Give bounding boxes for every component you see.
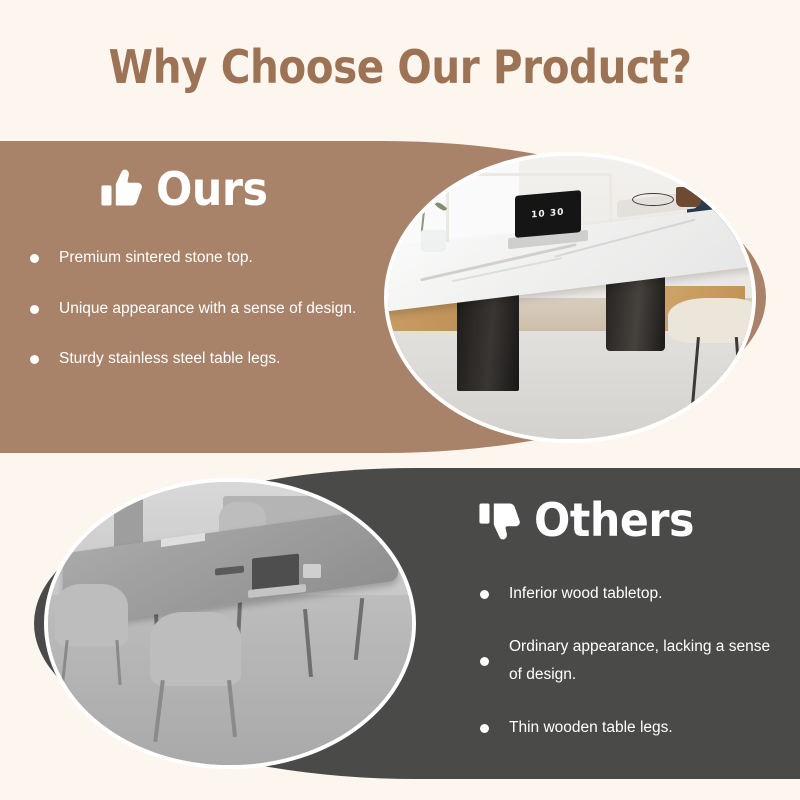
ours-bullet-list: Premium sintered stone top. Unique appea… xyxy=(30,244,375,396)
bullet-dot-icon xyxy=(30,254,39,263)
list-item: Sturdy stainless steel table legs. xyxy=(30,345,375,374)
bullet-dot-icon xyxy=(30,355,39,364)
thumbs-down-icon xyxy=(478,497,524,543)
list-item-label: Sturdy stainless steel table legs. xyxy=(59,345,280,374)
ours-product-photo: 10 30 xyxy=(384,152,756,443)
laptop-clock-text: 10 30 xyxy=(532,208,565,221)
others-product-photo xyxy=(44,478,416,769)
ours-heading-text: Ours xyxy=(156,166,268,212)
others-heading-text: Others xyxy=(534,497,694,543)
page-title: Why Choose Our Product? xyxy=(48,40,752,94)
others-bullet-list: Inferior wood tabletop. Ordinary appeara… xyxy=(480,580,780,767)
list-item-label: Premium sintered stone top. xyxy=(59,244,253,273)
conference-chair xyxy=(150,612,241,686)
others-photo-scene xyxy=(48,482,412,765)
glass-vase xyxy=(421,230,446,253)
list-item: Inferior wood tabletop. xyxy=(480,580,780,609)
bullet-dot-icon xyxy=(480,657,489,666)
bullet-dot-icon xyxy=(480,590,489,599)
conference-chair xyxy=(55,584,128,646)
ours-heading: Ours xyxy=(100,166,276,212)
infographic-page: Why Choose Our Product? xyxy=(0,0,800,800)
bullet-dot-icon xyxy=(480,724,489,733)
bullet-dot-icon xyxy=(30,305,39,314)
list-item-label: Thin wooden table legs. xyxy=(509,714,673,743)
ours-photo-scene: 10 30 xyxy=(388,156,752,439)
eyeglasses xyxy=(632,193,674,206)
laptop-screen: 10 30 xyxy=(515,190,581,238)
list-item-label: Unique appearance with a sense of design… xyxy=(59,295,356,324)
coffee-cup xyxy=(676,187,701,207)
area-rug xyxy=(384,331,756,443)
others-heading: Others xyxy=(478,497,706,543)
drinking-glass xyxy=(303,564,321,578)
list-item: Ordinary appearance, lacking a sense of … xyxy=(480,633,780,690)
list-item: Thin wooden table legs. xyxy=(480,714,780,743)
dining-chair xyxy=(668,298,756,343)
list-item-label: Ordinary appearance, lacking a sense of … xyxy=(509,633,780,690)
list-item: Unique appearance with a sense of design… xyxy=(30,295,375,324)
thumbs-up-icon xyxy=(100,166,146,212)
list-item: Premium sintered stone top. xyxy=(30,244,375,273)
list-item-label: Inferior wood tabletop. xyxy=(509,580,662,609)
